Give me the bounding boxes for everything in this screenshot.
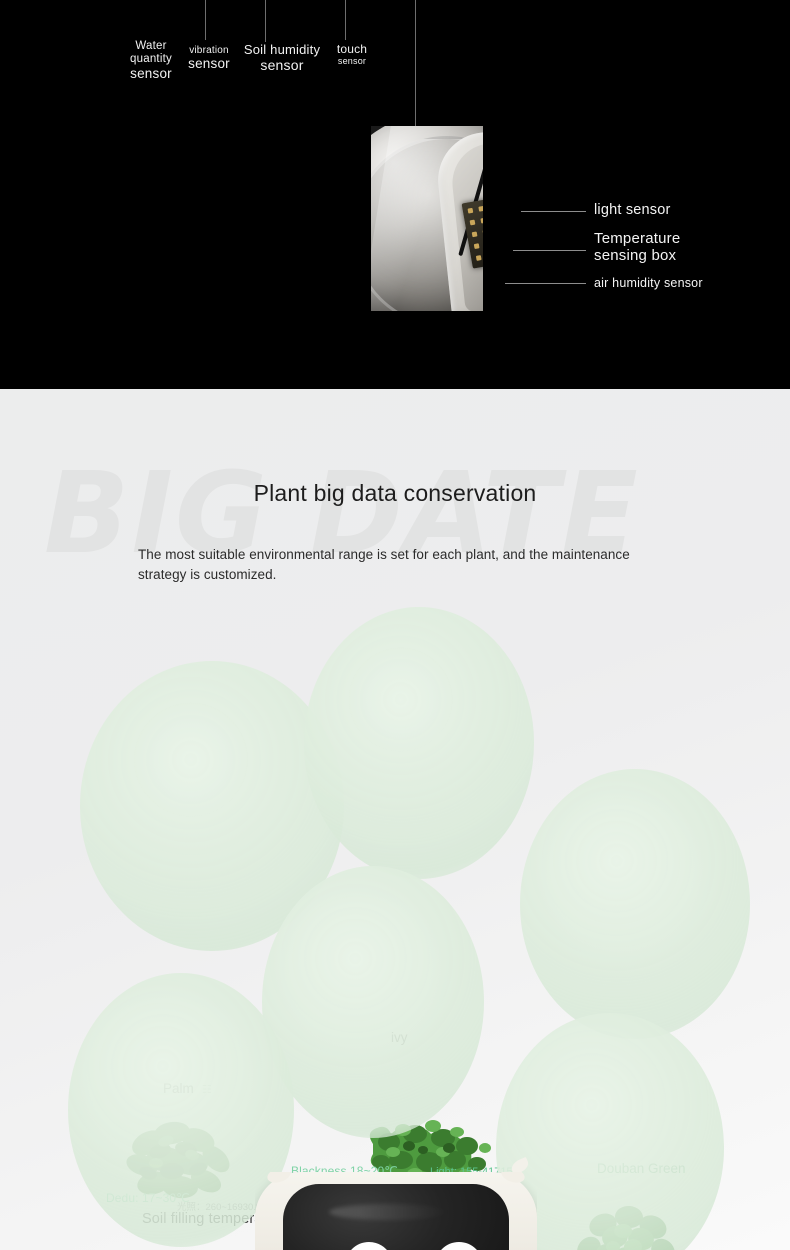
leader-line-vibration bbox=[265, 0, 266, 42]
sensor-label-soil-humidity: Soil humidity sensor bbox=[236, 43, 328, 73]
section-subtitle: The most suitable environmental range is… bbox=[138, 545, 668, 584]
leader-line-soil-humidity bbox=[345, 0, 346, 40]
label-line-2: sensor bbox=[326, 56, 378, 66]
product-photo-inset bbox=[371, 126, 526, 323]
device-ear-left bbox=[265, 1172, 292, 1185]
plant-bubble-douban-green[interactable] bbox=[520, 769, 750, 1039]
device-screen-face bbox=[283, 1184, 509, 1250]
callout-text: air humidity sensor bbox=[594, 276, 703, 290]
section-title: Plant big data conservation bbox=[0, 480, 790, 507]
leader-line-temperature-box bbox=[513, 250, 586, 251]
callout-text: light sensor bbox=[594, 202, 671, 218]
callout-text-line-2: sensing box bbox=[594, 248, 680, 265]
label-line-2: sensor bbox=[180, 56, 238, 71]
device-eye-left bbox=[345, 1242, 393, 1250]
smart-planter-device bbox=[255, 1172, 537, 1250]
big-data-section: BIG DATE Plant big data conservation The… bbox=[0, 389, 790, 1250]
label-line-2: quantity bbox=[118, 53, 184, 66]
leader-line-light-sensor bbox=[521, 211, 586, 212]
callout-light-sensor: light sensor bbox=[594, 202, 671, 218]
sensor-label-touch: touch sensor bbox=[326, 43, 378, 67]
callout-air-humidity-sensor: air humidity sensor bbox=[594, 276, 703, 290]
photo-dark-mask-right bbox=[483, 126, 526, 323]
leader-line-air-humidity bbox=[505, 283, 586, 284]
leader-line-water bbox=[205, 0, 206, 40]
label-line-1: Soil humidity bbox=[236, 43, 328, 58]
label-line-1: Water bbox=[118, 40, 184, 53]
callout-text-line-1: Temperature bbox=[594, 231, 680, 248]
callout-temperature-sensing-box: Temperature sensing box bbox=[594, 231, 680, 265]
plant-bubble-ivy[interactable] bbox=[304, 607, 534, 879]
sensor-label-vibration: vibration sensor bbox=[180, 45, 238, 71]
photo-dark-mask-bottom bbox=[371, 311, 526, 323]
label-line-2: sensor bbox=[236, 58, 328, 74]
device-eye-right bbox=[435, 1242, 483, 1250]
sensor-label-water-quantity: Water quantity sensor bbox=[118, 40, 184, 81]
label-line-3: sensor bbox=[118, 66, 184, 81]
plant-bubble-wolf-tail-fern[interactable] bbox=[262, 866, 484, 1138]
device-body bbox=[255, 1172, 537, 1250]
device-screen-glare bbox=[329, 1204, 449, 1220]
product-infographic-page: Water quantity sensor vibration sensor S… bbox=[0, 0, 790, 1250]
hero-dark-section: Water quantity sensor vibration sensor S… bbox=[0, 0, 790, 389]
label-line-1: touch bbox=[326, 43, 378, 56]
device-ear-right bbox=[499, 1172, 526, 1185]
label-line-1: vibration bbox=[180, 45, 238, 56]
